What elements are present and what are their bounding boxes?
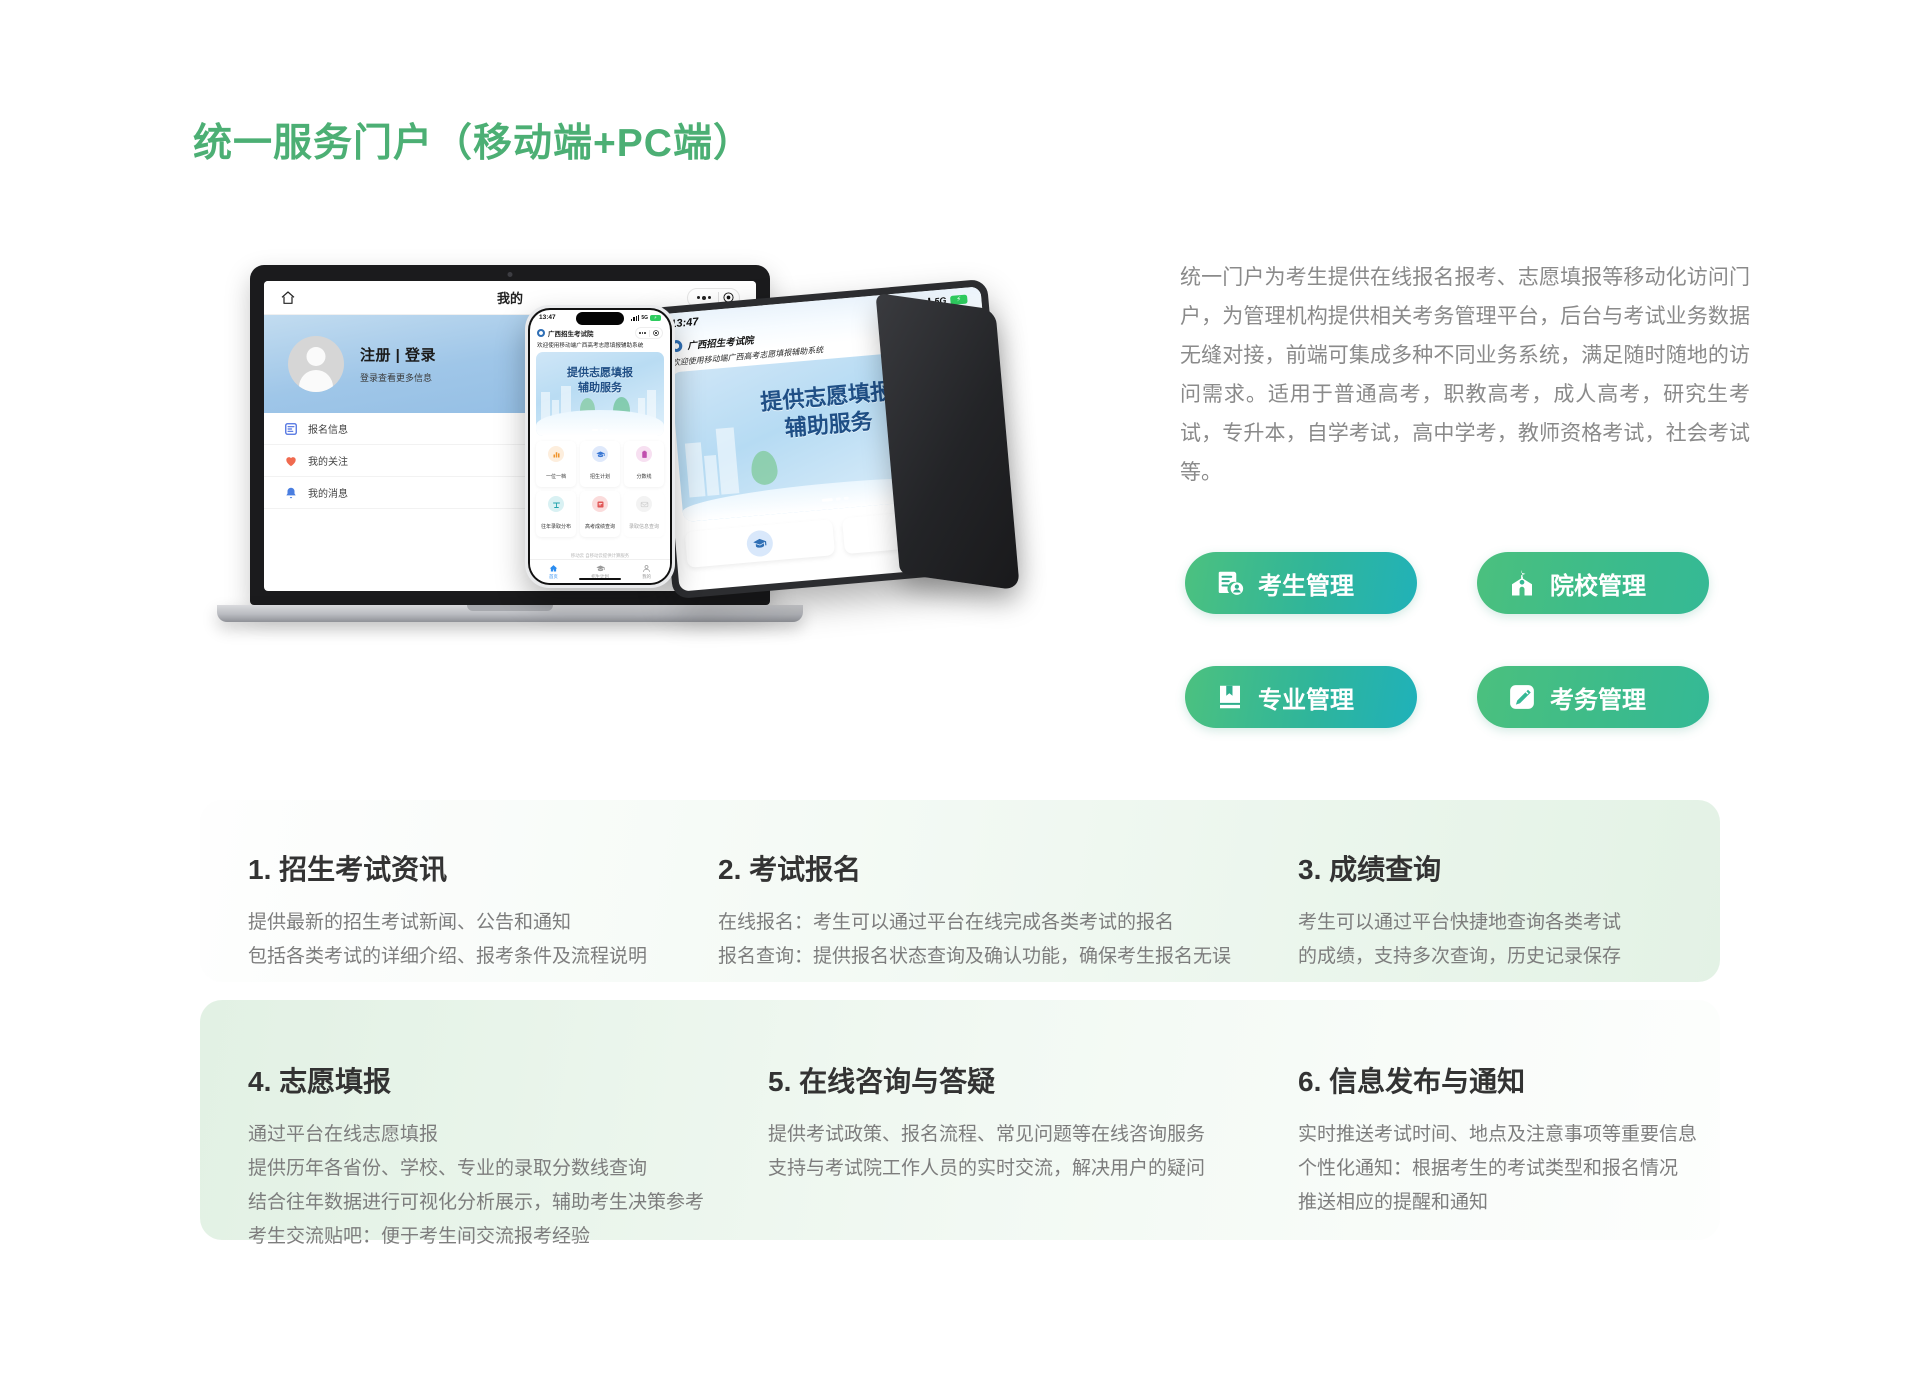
heart-icon <box>284 454 298 468</box>
grid-item-past-admission[interactable]: 往年录取分布 <box>536 491 576 537</box>
tablet-mockup: 13:47 5G ⚡ 广西招生考试院 <box>648 279 1012 600</box>
nav-item-profile[interactable]: 我的 <box>623 564 670 580</box>
graduation-cap-icon <box>592 446 608 462</box>
card-body: 实时推送考试时间、地点及注意事项等重要信息 个性化通知：根据考生的考试类型和报名… <box>1298 1118 1712 1220</box>
phone-quick-grid: 一位一档 招生计划 分数线 <box>530 436 670 537</box>
phone-mockup: 13:47 5G ⚡ 广西招生考试院 <box>525 305 675 588</box>
tablet-stand <box>875 293 1020 591</box>
score-card-icon <box>592 496 608 512</box>
card-title: 3. 成绩查询 <box>1298 848 1712 888</box>
grid-item-score-line[interactable]: 分数线 <box>624 441 664 487</box>
nav-item-home[interactable]: 首页 <box>530 564 577 580</box>
graduation-cap-icon <box>746 529 774 557</box>
grid-item-label: 一位一档 <box>546 474 566 480</box>
device-mockup-group: 我的 <box>180 265 1110 685</box>
more-dots-icon[interactable] <box>639 332 646 334</box>
card-title: 1. 招生考试资讯 <box>248 848 662 888</box>
grid-item-enrollment-plan[interactable]: 招生计划 <box>580 441 620 487</box>
phone-app-bar: 广西招生考试院 <box>530 325 670 341</box>
form-icon <box>284 422 298 436</box>
poster-root: 统一服务门户（移动端+PC端） 我的 <box>0 0 1920 1392</box>
card-body: 考生可以通过平台快捷地查询各类考试 的成绩，支持多次查询，历史记录保存 <box>1298 906 1712 974</box>
card-title: 6. 信息发布与通知 <box>1298 1060 1712 1100</box>
app-name: 广西招生考试院 <box>548 328 594 338</box>
card-line: 提供最新的招生考试新闻、公告和通知 <box>248 906 662 940</box>
grid-item-label: 往年录取分布 <box>541 524 571 530</box>
card-line: 考生交流贴吧：便于考生间交流报考经验 <box>248 1220 712 1254</box>
card-body: 在线报名：考生可以通过平台在线完成各类考试的报名 报名查询：提供报名状态查询及确… <box>718 906 1242 974</box>
more-dots-icon[interactable] <box>690 296 718 300</box>
school-building-icon <box>1507 568 1537 598</box>
card-body: 提供考试政策、报名流程、常见问题等在线咨询服务 支持与考试院工作人员的实时交流，… <box>768 1118 1242 1186</box>
card-line: 个性化通知：根据考生的考试类型和报名情况 <box>1298 1152 1712 1186</box>
card-title: 4. 志愿填报 <box>248 1060 712 1100</box>
card-line: 支持与考试院工作人员的实时交流，解决用户的疑问 <box>768 1152 1242 1186</box>
tablet-grid-item[interactable] <box>685 519 836 568</box>
nav-item-label: 首页 <box>530 574 577 580</box>
feature-card-4: 4. 志愿填报 通过平台在线志愿填报 提供历年各省份、学校、专业的录取分数线查询… <box>200 1000 720 1240</box>
menu-item-label: 报名信息 <box>308 421 348 436</box>
card-line: 实时推送考试时间、地点及注意事项等重要信息 <box>1298 1118 1712 1152</box>
pencil-square-icon <box>1507 682 1537 712</box>
status-time: 13:47 <box>539 314 556 321</box>
exam-affairs-management-button[interactable]: 考务管理 <box>1477 666 1709 728</box>
card-title: 5. 在线咨询与答疑 <box>768 1060 1242 1100</box>
app-logo-icon <box>537 329 545 337</box>
phone-hero-banner[interactable]: 提供志愿填报 辅助服务 <box>536 352 664 436</box>
card-line: 提供历年各省份、学校、专业的录取分数线查询 <box>248 1152 712 1186</box>
feature-card-row-1: 1. 招生考试资讯 提供最新的招生考试新闻、公告和通知 包括各类考试的详细介绍、… <box>200 800 1720 982</box>
card-title: 2. 考试报名 <box>718 848 1242 888</box>
card-line: 的成绩，支持多次查询，历史记录保存 <box>1298 940 1712 974</box>
grid-item-admission-info[interactable]: 录取信息查询 <box>624 491 664 537</box>
phone-screen: 13:47 5G ⚡ 广西招生考试院 <box>530 310 670 583</box>
laptop-camera-icon <box>508 272 513 277</box>
card-line: 考生可以通过平台快捷地查询各类考试 <box>1298 906 1712 940</box>
button-label: 考生管理 <box>1258 566 1354 601</box>
button-label: 院校管理 <box>1550 566 1646 601</box>
grid-item-label: 录取信息查询 <box>629 524 659 530</box>
candidate-file-icon <box>1215 568 1245 598</box>
page-title: 统一服务门户（移动端+PC端） <box>193 112 753 168</box>
grid-item-yiweiyidang[interactable]: 一位一档 <box>536 441 576 487</box>
button-label: 专业管理 <box>1258 680 1354 715</box>
candidate-management-button[interactable]: 考生管理 <box>1185 552 1417 614</box>
book-bookmark-icon <box>1215 682 1245 712</box>
bar-chart-icon <box>548 446 564 462</box>
card-body: 提供最新的招生考试新闻、公告和通知 包括各类考试的详细介绍、报考条件及流程说明 <box>248 906 662 974</box>
grid-item-gaokao-score[interactable]: 高考成绩查询 <box>580 491 620 537</box>
battery-charging-icon: ⚡ <box>650 315 661 321</box>
register-login-link[interactable]: 注册 | 登录 <box>360 344 436 365</box>
management-button-grid: 考生管理 院校管理 专业管理 考务管理 <box>1185 552 1745 728</box>
menu-item-label: 我的关注 <box>308 453 348 468</box>
envelope-icon <box>636 496 652 512</box>
capsule-divider <box>649 330 650 337</box>
card-line: 推送相应的提醒和通知 <box>1298 1186 1712 1220</box>
signal-icon <box>631 315 639 321</box>
bell-icon <box>284 486 298 500</box>
banner-hill <box>536 410 664 436</box>
avatar <box>288 336 344 392</box>
card-line: 报名查询：提供报名状态查询及确认功能，确保考生报名无误 <box>718 940 1242 974</box>
phone-status-bar: 13:47 5G ⚡ <box>530 310 670 325</box>
welcome-text: 欢迎使用移动端广西高考志愿填报辅助系统 <box>530 341 670 352</box>
laptop-page-title: 我的 <box>264 288 756 307</box>
intro-paragraph: 统一门户为考生提供在线报名报考、志愿填报等移动化访问门户，为管理机构提供相关考务… <box>1180 258 1750 492</box>
clipboard-icon <box>636 446 652 462</box>
home-indicator <box>579 578 621 581</box>
major-management-button[interactable]: 专业管理 <box>1185 666 1417 728</box>
close-target-icon[interactable] <box>653 330 659 336</box>
feature-card-2: 2. 考试报名 在线报名：考生可以通过平台在线完成各类考试的报名 报名查询：提供… <box>670 800 1250 982</box>
school-management-button[interactable]: 院校管理 <box>1477 552 1709 614</box>
feature-card-row-2: 4. 志愿填报 通过平台在线志愿填报 提供历年各省份、学校、专业的录取分数线查询… <box>200 1000 1720 1240</box>
card-line: 在线报名：考生可以通过平台在线完成各类考试的报名 <box>718 906 1242 940</box>
network-label: 5G <box>641 315 648 321</box>
feature-card-1: 1. 招生考试资讯 提供最新的招生考试新闻、公告和通知 包括各类考试的详细介绍、… <box>200 800 670 982</box>
phone-frame: 13:47 5G ⚡ 广西招生考试院 <box>528 308 672 585</box>
card-line: 通过平台在线志愿填报 <box>248 1118 712 1152</box>
banner-pagination-dots[interactable] <box>592 429 608 431</box>
button-label: 考务管理 <box>1550 680 1646 715</box>
feature-card-6: 6. 信息发布与通知 实时推送考试时间、地点及注意事项等重要信息 个性化通知：根… <box>1250 1000 1720 1240</box>
scale-icon <box>548 496 564 512</box>
menu-item-label: 我的消息 <box>308 485 348 500</box>
feature-card-3: 3. 成绩查询 考生可以通过平台快捷地查询各类考试 的成绩，支持多次查询，历史记… <box>1250 800 1720 982</box>
grid-item-label: 分数线 <box>636 474 651 480</box>
grid-item-label: 高考成绩查询 <box>585 524 615 530</box>
app-name: 广西招生考试院 <box>687 332 754 352</box>
card-line: 提供考试政策、报名流程、常见问题等在线咨询服务 <box>768 1118 1242 1152</box>
card-line: 结合往年数据进行可视化分析展示，辅助考生决策参考 <box>248 1186 712 1220</box>
laptop-base <box>217 605 803 622</box>
mini-program-capsule[interactable] <box>635 327 663 339</box>
banner-title: 提供志愿填报 辅助服务 <box>536 366 664 396</box>
login-subtitle: 登录查看更多信息 <box>360 371 436 384</box>
grid-item-label: 招生计划 <box>590 474 610 480</box>
dynamic-island <box>576 312 624 325</box>
feature-card-5: 5. 在线咨询与答疑 提供考试政策、报名流程、常见问题等在线咨询服务 支持与考试… <box>720 1000 1250 1240</box>
card-line: 包括各类考试的详细介绍、报考条件及流程说明 <box>248 940 662 974</box>
nav-item-label: 我的 <box>623 574 670 580</box>
card-body: 通过平台在线志愿填报 提供历年各省份、学校、专业的录取分数线查询 结合往年数据进… <box>248 1118 712 1254</box>
laptop-base-notch <box>467 605 553 611</box>
